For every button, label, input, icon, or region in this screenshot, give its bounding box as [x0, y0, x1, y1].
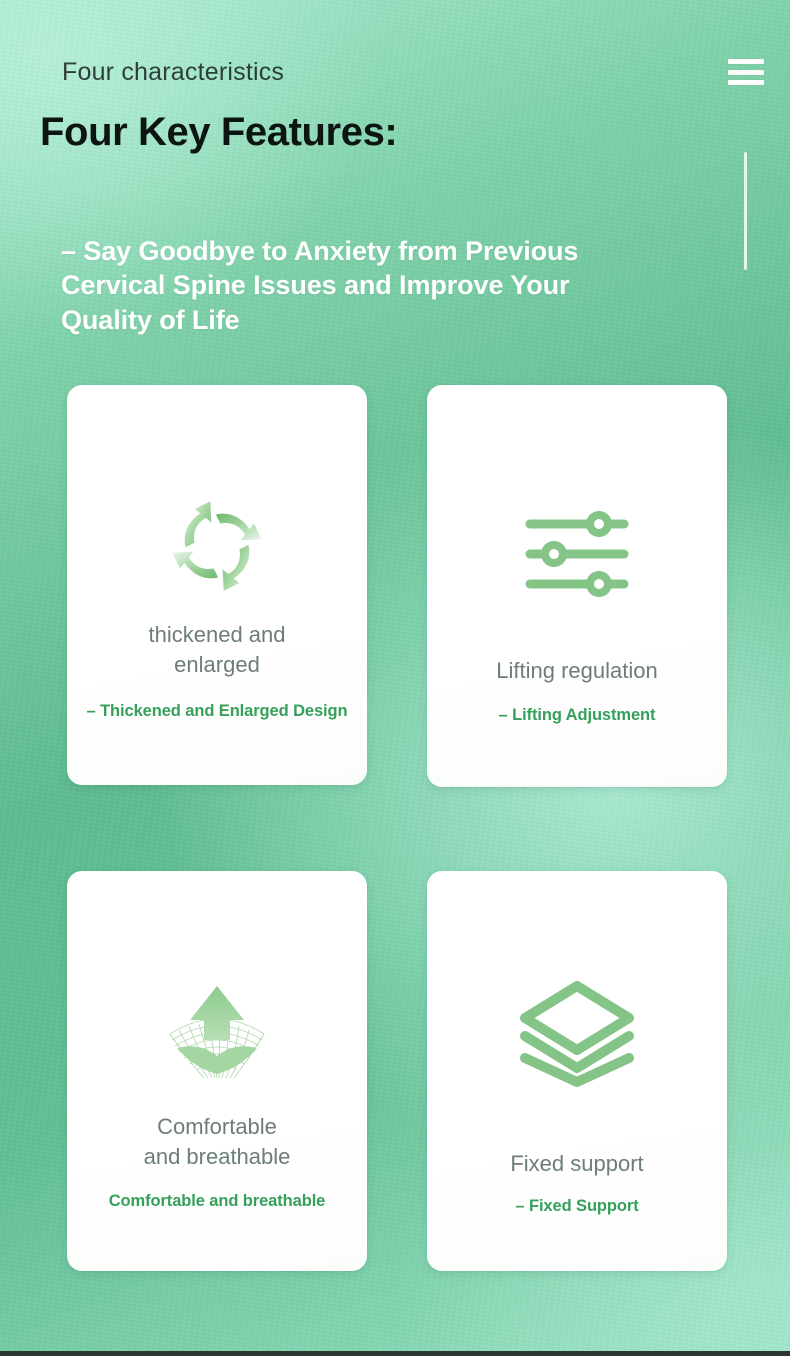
page-subtitle: – Say Goodbye to Anxiety from Previous C…: [61, 234, 606, 337]
feature-card-title: Lifting regulation: [476, 656, 677, 686]
mesh-upward-arrow-icon: [67, 979, 367, 1084]
features-row-1: thickened and enlarged – Thickened and E…: [67, 385, 727, 787]
hamburger-bar-3: [728, 80, 764, 85]
feature-card-breathable[interactable]: Comfortable and breathable Comfortable a…: [67, 871, 367, 1271]
page-eyebrow: Four characteristics: [62, 58, 284, 87]
page-root: Four characteristics Four Key Features: …: [0, 0, 790, 1356]
page-title: Four Key Features:: [40, 110, 397, 155]
feature-card-title: Fixed support: [490, 1149, 663, 1179]
features-row-2: Comfortable and breathable Comfortable a…: [67, 871, 727, 1271]
feature-card-thickened[interactable]: thickened and enlarged – Thickened and E…: [67, 385, 367, 785]
feature-card-tag: – Fixed Support: [507, 1197, 646, 1216]
sliders-adjustment-icon: [427, 501, 727, 606]
features-grid: thickened and enlarged – Thickened and E…: [67, 385, 727, 1271]
hamburger-bar-1: [728, 59, 764, 64]
feature-card-tag: – Lifting Adjustment: [491, 706, 664, 725]
hamburger-bar-2: [728, 70, 764, 75]
recycle-cycle-arrows-icon: [67, 490, 367, 602]
bottom-bar: [0, 1351, 790, 1356]
feature-card-lifting[interactable]: Lifting regulation – Lifting Adjustment: [427, 385, 727, 787]
scrollbar-indicator[interactable]: [744, 152, 747, 270]
feature-card-tag: – Thickened and Enlarged Design: [79, 702, 356, 721]
hamburger-menu-icon[interactable]: [728, 55, 764, 89]
feature-card-title: Comfortable and breathable: [117, 1112, 317, 1172]
stacked-layers-icon: [427, 976, 727, 1091]
feature-card-fixed-support[interactable]: Fixed support – Fixed Support: [427, 871, 727, 1271]
feature-card-tag: Comfortable and breathable: [101, 1192, 334, 1211]
feature-card-title: thickened and enlarged: [122, 620, 312, 680]
